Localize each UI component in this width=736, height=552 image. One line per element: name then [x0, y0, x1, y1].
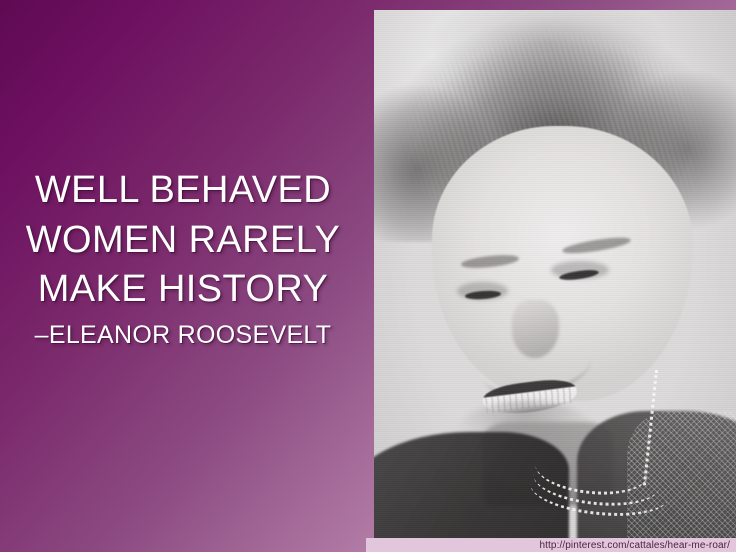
portrait-image: [374, 10, 736, 538]
portrait-photo: [374, 10, 736, 538]
quote-panel: WELL BEHAVED WOMEN RARELY MAKE HISTORY –…: [0, 0, 366, 552]
credit-strip: http://pinterest.com/cattales/hear-me-ro…: [366, 538, 736, 552]
quote-line-3: MAKE HISTORY: [6, 265, 360, 314]
quote-line-1: WELL BEHAVED: [6, 166, 360, 215]
quote-slide: WELL BEHAVED WOMEN RARELY MAKE HISTORY –…: [0, 0, 736, 552]
quote-attribution: –ELEANOR ROOSEVELT: [6, 320, 360, 351]
quote-line-2: WOMEN RARELY: [6, 216, 360, 265]
pearl-necklace: [530, 448, 675, 522]
quote-text-block: WELL BEHAVED WOMEN RARELY MAKE HISTORY –…: [6, 166, 360, 351]
source-url[interactable]: http://pinterest.com/cattales/hear-me-ro…: [540, 540, 731, 551]
